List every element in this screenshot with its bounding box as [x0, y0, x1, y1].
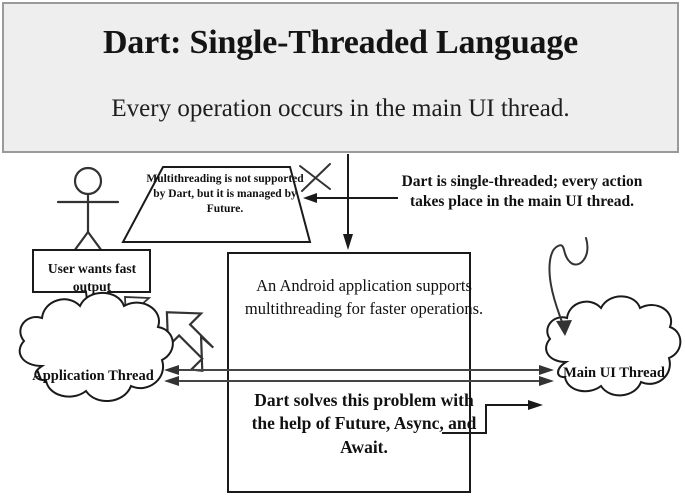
arrow-left-icon [303, 193, 398, 203]
speech-bubble-label: User wants fast output [34, 260, 150, 295]
right-annotation-label: Dart is single-threaded; every action ta… [388, 172, 656, 212]
cloud-application-thread-label: Application Thread [22, 367, 164, 386]
page-title: Dart: Single-Threaded Language [103, 24, 578, 62]
cloud-main-ui-thread-label: Main UI Thread [556, 364, 672, 383]
center-box-top-label: An Android application supports multithr… [240, 274, 488, 321]
person-icon [58, 168, 118, 262]
arrow-down-icon [343, 154, 353, 250]
center-box-bottom-label: Dart solves this problem with the help o… [244, 389, 484, 459]
multithreading-note-label: Multithreading is not supported by Dart,… [140, 172, 310, 218]
double-headed-diagonal-arrow-icon [167, 312, 213, 371]
header-panel: Dart: Single-Threaded Language Every ope… [2, 2, 679, 153]
page-subtitle: Every operation occurs in the main UI th… [111, 95, 569, 123]
